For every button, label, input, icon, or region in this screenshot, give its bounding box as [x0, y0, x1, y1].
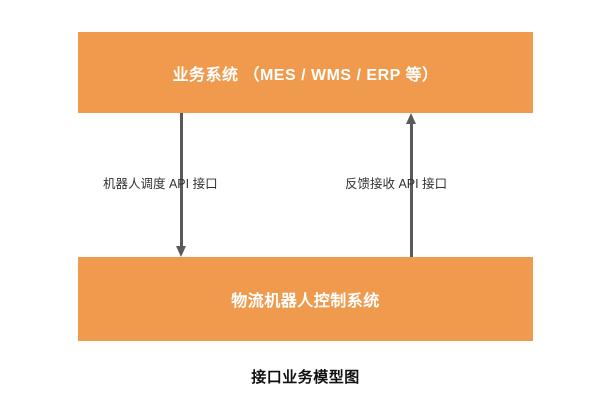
diagram-canvas: 业务系统 （MES / WMS / ERP 等） 机器人调度 API 接口 反馈… — [0, 0, 611, 412]
node-logistics-robot-control-system-label: 物流机器人控制系统 — [231, 287, 380, 311]
node-business-system[interactable]: 业务系统 （MES / WMS / ERP 等） — [78, 32, 533, 113]
arrow-head-up-icon — [406, 113, 416, 124]
connector-feedback-label: 反馈接收 API 接口 — [345, 178, 447, 191]
node-business-system-label: 业务系统 （MES / WMS / ERP 等） — [173, 61, 439, 85]
connector-dispatch-label: 机器人调度 API 接口 — [103, 178, 218, 191]
figure-caption: 接口业务模型图 — [0, 366, 611, 387]
arrow-head-down-icon — [176, 246, 186, 257]
node-logistics-robot-control-system[interactable]: 物流机器人控制系统 — [78, 257, 533, 341]
